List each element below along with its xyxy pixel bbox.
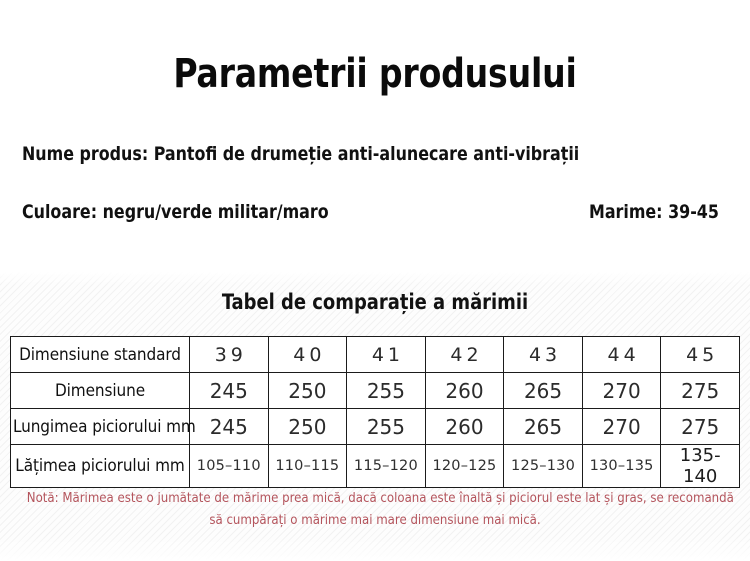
size-comparison-table: Dimensiune standard 39 40 41 42 43 44 45…: [10, 336, 740, 488]
table-cell: 275: [661, 409, 740, 445]
band-top-fade: [0, 272, 750, 286]
size-note: Notă: Mărimea este o jumătate de mărime …: [27, 487, 723, 531]
product-color-line: Culoare: negru/verde militar/maro: [22, 200, 329, 224]
table-cell: 270: [582, 409, 661, 445]
row-label: Dimensiune standard: [11, 337, 190, 373]
table-row: Dimensiune 245 250 255 260 265 270 275: [11, 373, 740, 409]
table-cell: 115–120: [347, 445, 426, 488]
size-note-line-2: să cumpărați o mărime mai mare dimensiun…: [27, 509, 723, 531]
product-spec-block: Parametrii produsului Nume produs: Panto…: [0, 0, 750, 272]
table-cell: 270: [582, 373, 661, 409]
row-label: Lățimea piciorului mm: [11, 445, 190, 488]
table-row: Lungimea piciorului mm 245 250 255 260 2…: [11, 409, 740, 445]
size-chart-heading: Tabel de comparație a mărimii: [19, 289, 732, 315]
row-label: Lungimea piciorului mm: [11, 409, 190, 445]
product-name-line: Nume produs: Pantofi de drumeție anti-al…: [22, 142, 579, 166]
product-parameters-page: Parametrii produsului Nume produs: Panto…: [0, 0, 750, 561]
page-title: Parametrii produsului: [30, 52, 720, 96]
table-cell: 45: [661, 337, 740, 373]
table-cell: 125–130: [504, 445, 583, 488]
table-cell: 265: [504, 373, 583, 409]
table-cell: 245: [190, 373, 269, 409]
product-size-range-line: Marime: 39-45: [589, 200, 719, 224]
size-note-line-1: Notă: Mărimea este o jumătate de mărime …: [27, 487, 723, 509]
row-label: Dimensiune: [11, 373, 190, 409]
table-cell: 43: [504, 337, 583, 373]
table-cell: 130–135: [582, 445, 661, 488]
size-chart-band: Tabel de comparație a mărimii Dimensiune…: [0, 272, 750, 561]
table-cell: 110–115: [268, 445, 347, 488]
table-cell: 41: [347, 337, 426, 373]
table-row: Dimensiune standard 39 40 41 42 43 44 45: [11, 337, 740, 373]
table-cell: 260: [425, 373, 504, 409]
table-row: Lățimea piciorului mm 105–110 110–115 11…: [11, 445, 740, 488]
table-cell: 265: [504, 409, 583, 445]
table-cell: 275: [661, 373, 740, 409]
table-cell: 255: [347, 409, 426, 445]
table-cell: 39: [190, 337, 269, 373]
table-cell: 105–110: [190, 445, 269, 488]
table-cell: 245: [190, 409, 269, 445]
table-cell: 40: [268, 337, 347, 373]
table-cell: 255: [347, 373, 426, 409]
table-cell: 44: [582, 337, 661, 373]
table-cell: 260: [425, 409, 504, 445]
table-cell: 250: [268, 373, 347, 409]
table-cell: 120–125: [425, 445, 504, 488]
table-cell: 135-140: [661, 445, 740, 488]
table-cell: 250: [268, 409, 347, 445]
table-cell: 42: [425, 337, 504, 373]
band-bottom-fade: [0, 535, 750, 561]
